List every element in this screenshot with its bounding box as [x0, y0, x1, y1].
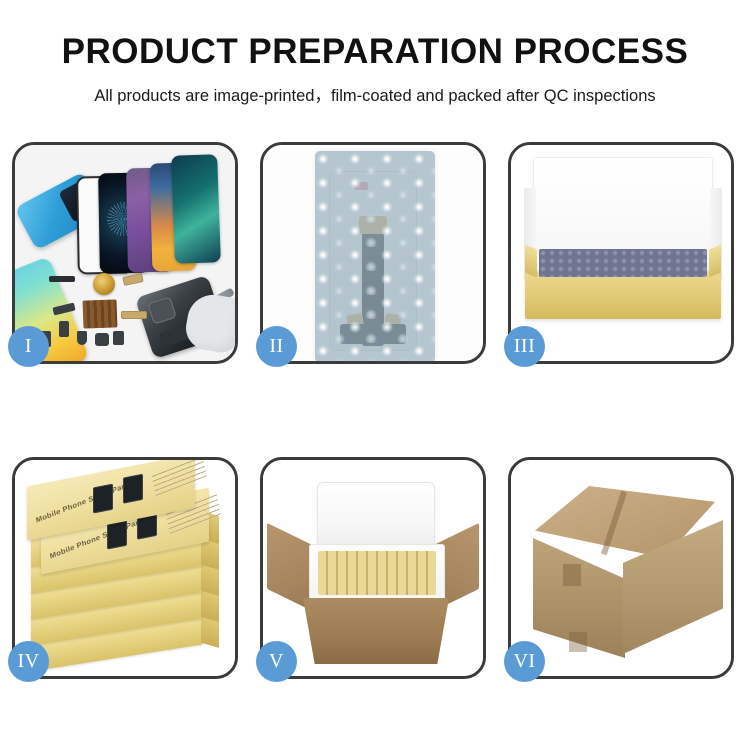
step-badge-6: VI: [504, 641, 545, 682]
step-image-6: [511, 460, 731, 676]
step-badge-2: II: [256, 326, 297, 367]
box-photo-2-icon: [123, 474, 143, 504]
phone-teal-icon: [171, 154, 221, 264]
step-badge-4: IV: [8, 641, 49, 682]
yellow-box-tray-icon: [525, 271, 721, 319]
copper-coil-icon: [93, 273, 115, 295]
step-image-1: [15, 145, 235, 361]
yellow-boxes-inside-icon: [318, 551, 436, 595]
step-panel-4: Mobile Phone Spare Parts Mobile Phone Sp…: [12, 457, 238, 679]
bubble-texture: [315, 151, 435, 361]
tray-lip-right: [709, 245, 721, 278]
step-panel-3: III: [508, 142, 734, 364]
carton-tab-lower: [569, 632, 587, 652]
flex-cable-2-icon: [121, 311, 147, 319]
step-badge-1: I: [8, 326, 49, 367]
bubble-wrap-bag: [315, 151, 435, 361]
tray-lip-left: [525, 245, 537, 278]
step-badge-5: V: [256, 641, 297, 682]
process-steps-grid: I II III: [12, 142, 738, 679]
carton-front-panel: [303, 598, 449, 664]
small-part-5-icon: [113, 331, 124, 345]
part-bar-icon: [49, 276, 75, 282]
box-stack: Mobile Phone Spare Parts Mobile Phone Sp…: [15, 460, 235, 676]
grey-foam-padding-icon: [539, 249, 707, 277]
foam-box-lid-icon: [317, 482, 435, 550]
small-part-2-icon: [59, 321, 69, 337]
page-subtitle: All products are image-printed，film-coat…: [0, 82, 750, 106]
step-image-5: [263, 460, 483, 676]
step-panel-6: VI: [508, 457, 734, 679]
step-panel-2: II: [260, 142, 486, 364]
box-print-label-1: Mobile Phone Spare Parts: [35, 479, 132, 525]
page-header: PRODUCT PREPARATION PROCESS All products…: [0, 0, 750, 106]
step-image-2: [263, 145, 483, 361]
step-panel-5: V: [260, 457, 486, 679]
flex-cable-icon: [122, 273, 143, 286]
step-panel-1: I: [12, 142, 238, 364]
small-part-3-icon: [77, 331, 87, 345]
step-image-4: Mobile Phone Spare Parts Mobile Phone Sp…: [15, 460, 235, 676]
step-image-3: [511, 145, 731, 361]
page-title: PRODUCT PREPARATION PROCESS: [0, 34, 750, 71]
chip-grid-icon: [83, 299, 118, 328]
carton-tab-upper: [563, 564, 581, 586]
box-photo-1-icon: [93, 484, 113, 514]
foam-box-body-icon: [309, 544, 445, 604]
step-badge-3: III: [504, 326, 545, 367]
small-part-4-icon: [95, 333, 109, 346]
